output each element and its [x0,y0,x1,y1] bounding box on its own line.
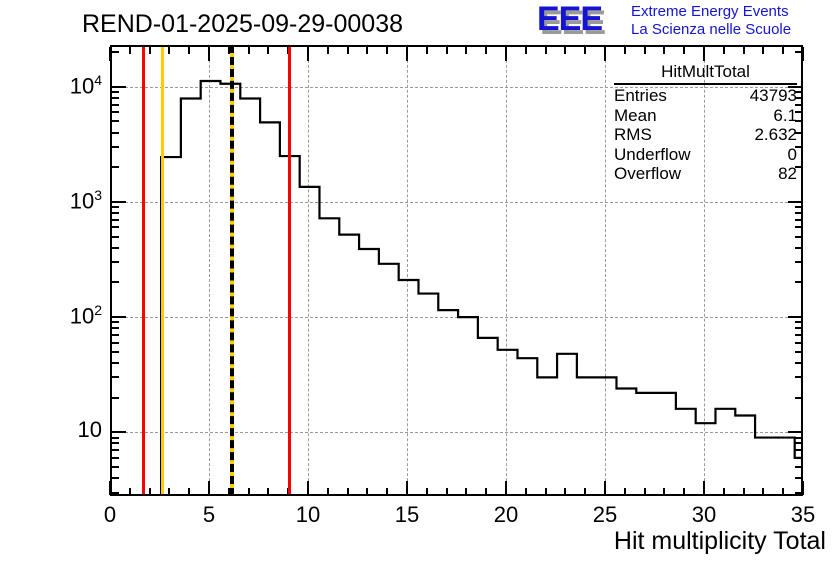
logo-line-1: Extreme Energy Events [631,3,789,20]
x-axis-tick-label: 5 [179,502,239,528]
y-axis-tick-label: 103 [70,187,102,214]
logo-line-2: La Scienza nelle Scuole [631,21,791,38]
stats-row: RMS2.632 [614,125,797,145]
stats-value: 0 [788,145,797,165]
stats-value: 82 [778,164,797,184]
y-axis-tick-label: 102 [70,302,102,329]
x-axis-tick-label: 15 [377,502,437,528]
x-axis-tick-label: 35 [773,502,833,528]
y-axis-tick-label: 104 [70,72,102,99]
x-axis-tick-label: 30 [674,502,734,528]
plot-canvas: REND-01-2025-09-29-00038 EEE EEE Extreme… [0,0,836,572]
x-axis-title: Hit multiplicity Total [614,527,826,556]
stats-box: HitMultTotal Entries43793Mean6.1RMS2.632… [614,62,797,184]
x-axis-tick-label: 20 [476,502,536,528]
stats-value: 2.632 [754,125,797,145]
stats-label: Entries [614,86,667,106]
x-axis-tick-label: 0 [80,502,140,528]
eee-logo: EEE EEE Extreme Energy Events La Scienza… [537,2,833,42]
y-axis-tick-label: 10 [78,417,102,443]
stats-label: Mean [614,106,657,126]
stats-label: RMS [614,125,652,145]
stats-title: HitMultTotal [614,62,797,85]
stats-label: Underflow [614,145,691,165]
stats-value: 43793 [750,86,797,106]
stats-row: Underflow0 [614,145,797,165]
stats-rows: Entries43793Mean6.1RMS2.632Underflow0Ove… [614,86,797,184]
logo-mark: EEE [537,2,602,36]
stats-row: Entries43793 [614,86,797,106]
x-axis-tick-label: 10 [278,502,338,528]
stats-row: Overflow82 [614,164,797,184]
stats-label: Overflow [614,164,681,184]
x-axis-tick-label: 25 [575,502,635,528]
stats-value: 6.1 [773,106,797,126]
stats-row: Mean6.1 [614,106,797,126]
page-title: REND-01-2025-09-29-00038 [82,10,403,39]
